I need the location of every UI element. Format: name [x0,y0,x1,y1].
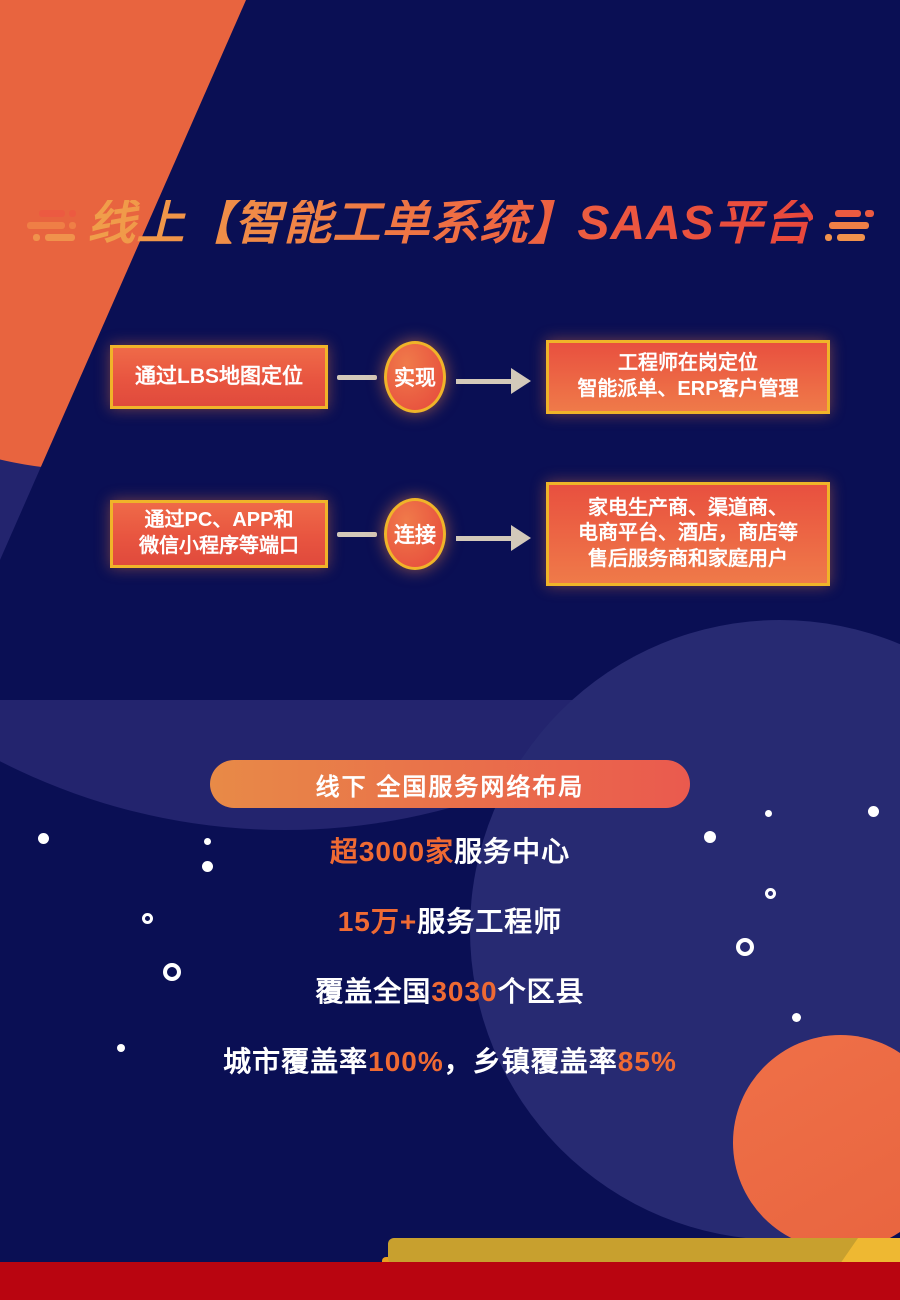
flow-target-box-2: 家电生产商、渠道商、 电商平台、酒店，商店等 售后服务商和家庭用户 [546,482,830,586]
flow-connector-dash-2 [337,532,377,537]
stat-prefix: 覆盖全国 [315,976,431,1007]
flow-target-box-1: 工程师在岗定位 智能派单、ERP客户管理 [546,340,830,414]
stat-highlight: 超3000家 [330,836,454,867]
star-dot [868,806,879,817]
flow-target-line: 家电生产商、渠道商、 [578,496,798,522]
speed-lines-icon [823,204,875,244]
stat-line: 超3000家服务中心 [0,838,900,866]
page-title: 线上【智能工单系统】SAAS平台 [0,188,900,260]
stat-prefix: 城市覆盖率 [223,1046,368,1077]
stat-line: 城市覆盖率100%，乡镇覆盖率85% [0,1048,900,1076]
offline-pill-label: 线下 全国服务网络布局 [316,767,585,802]
poster-canvas: 线上【智能工单系统】SAAS平台 通过LBS地图定位 实现 工程师在岗定位 智能… [0,0,900,1300]
flow-source-line: 微信小程序等端口 [139,534,299,560]
flow-target-line: 电商平台、酒店，商店等 [578,521,798,547]
stat-highlight: 100% [368,1046,444,1077]
flow-target-line: 工程师在岗定位 [577,351,798,377]
red-footer-band [0,1262,900,1300]
flow-row-1: 通过LBS地图定位 实现 工程师在岗定位 智能派单、ERP客户管理 [0,336,900,418]
gold-bar [388,1238,900,1264]
flow-source-line: 通过PC、APP和 [139,508,299,534]
flow-source-box-2: 通过PC、APP和 微信小程序等端口 [110,500,328,568]
stat-line: 覆盖全国3030个区县 [0,978,900,1006]
stat-suffix: ，乡镇覆盖率 [444,1046,618,1077]
flow-connector-label-1: 实现 [394,362,436,392]
stat-highlight-2: 85% [618,1046,677,1077]
flow-target-line: 智能派单、ERP客户管理 [577,377,798,403]
flow-source-text-1: 通过LBS地图定位 [135,364,303,391]
stat-suffix: 个区县 [498,976,585,1007]
stat-line: 15万+服务工程师 [0,908,900,936]
stat-suffix: 服务中心 [454,836,570,867]
flow-target-line: 售后服务商和家庭用户 [578,547,798,573]
flow-connector-dash-1 [337,375,377,380]
stat-highlight: 15万+ [338,906,418,937]
speed-lines-icon [25,204,77,244]
flow-connector-label-2: 连接 [394,519,436,549]
page-title-text: 线上【智能工单系统】SAAS平台 [87,200,812,248]
flow-source-box-1: 通过LBS地图定位 [110,345,328,409]
offline-stats-list: 超3000家服务中心 15万+服务工程师 覆盖全国3030个区县 城市覆盖率10… [0,838,900,1118]
stat-highlight: 3030 [431,976,497,1007]
flow-arrow-icon-2 [456,525,531,551]
flow-connector-badge-2: 连接 [384,498,446,570]
star-dot [765,810,772,817]
flow-connector-badge-1: 实现 [384,341,446,413]
offline-section-pill: 线下 全国服务网络布局 [210,760,690,808]
flow-row-2: 通过PC、APP和 微信小程序等端口 连接 家电生产商、渠道商、 电商平台、酒店… [0,478,900,590]
flow-arrow-icon-1 [456,368,531,394]
stat-suffix: 服务工程师 [417,906,562,937]
